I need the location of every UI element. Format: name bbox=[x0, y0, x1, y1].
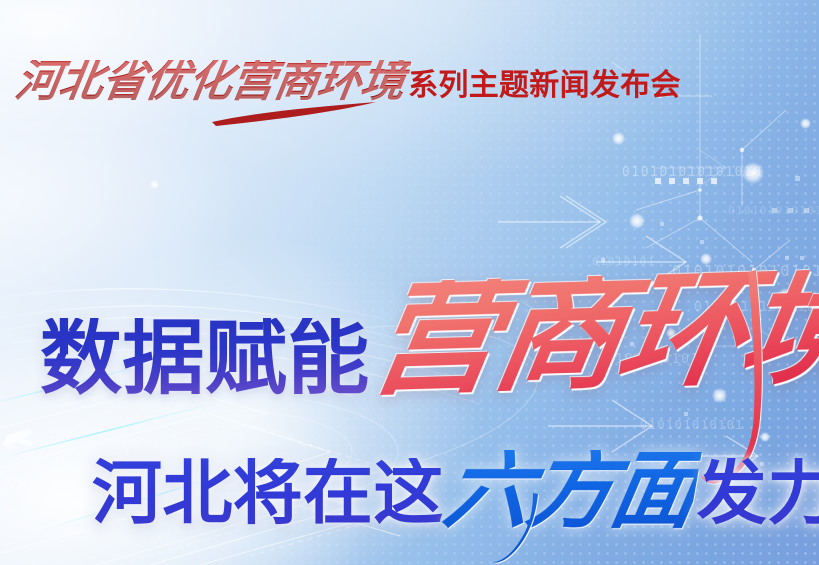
square-dot bbox=[788, 208, 793, 213]
square-dot bbox=[684, 412, 688, 416]
square-dot bbox=[655, 178, 661, 184]
news-poster: 010101010101010 01010101 010101010101010… bbox=[0, 0, 819, 565]
headline-line-1-prefix: 数据赋能 bbox=[40, 318, 370, 400]
headline-line-2: 河北将在这 六方面 发力 bbox=[92, 444, 819, 528]
square-dot bbox=[683, 178, 689, 184]
bokeh-dot bbox=[629, 213, 645, 229]
square-dot bbox=[669, 178, 675, 184]
banner-title-block: 系列主题新闻发布会 bbox=[408, 71, 681, 101]
bokeh-dot bbox=[742, 162, 764, 184]
square-dot bbox=[660, 222, 664, 226]
square-dot bbox=[804, 208, 809, 213]
square-dot bbox=[697, 178, 703, 184]
banner-title-script: 河北省优化营商环境 bbox=[13, 60, 412, 104]
banner-title: 河北省优化营商环境 系列主题新闻发布会 bbox=[16, 60, 681, 104]
square-dot bbox=[772, 208, 777, 213]
square-dot bbox=[700, 240, 704, 244]
spark-marker bbox=[2, 429, 34, 447]
square-dot bbox=[795, 176, 800, 181]
bokeh-dot bbox=[612, 132, 625, 145]
banner-brush-swoosh bbox=[210, 100, 390, 128]
headline-line-2-prefix: 河北将在这 bbox=[92, 458, 444, 528]
square-dot bbox=[711, 178, 717, 184]
brush-tail-stroke-blue bbox=[492, 492, 572, 565]
bokeh-dot bbox=[150, 180, 159, 189]
bokeh-dot bbox=[800, 118, 811, 129]
headline-line-2-suffix: 发力 bbox=[697, 458, 819, 528]
